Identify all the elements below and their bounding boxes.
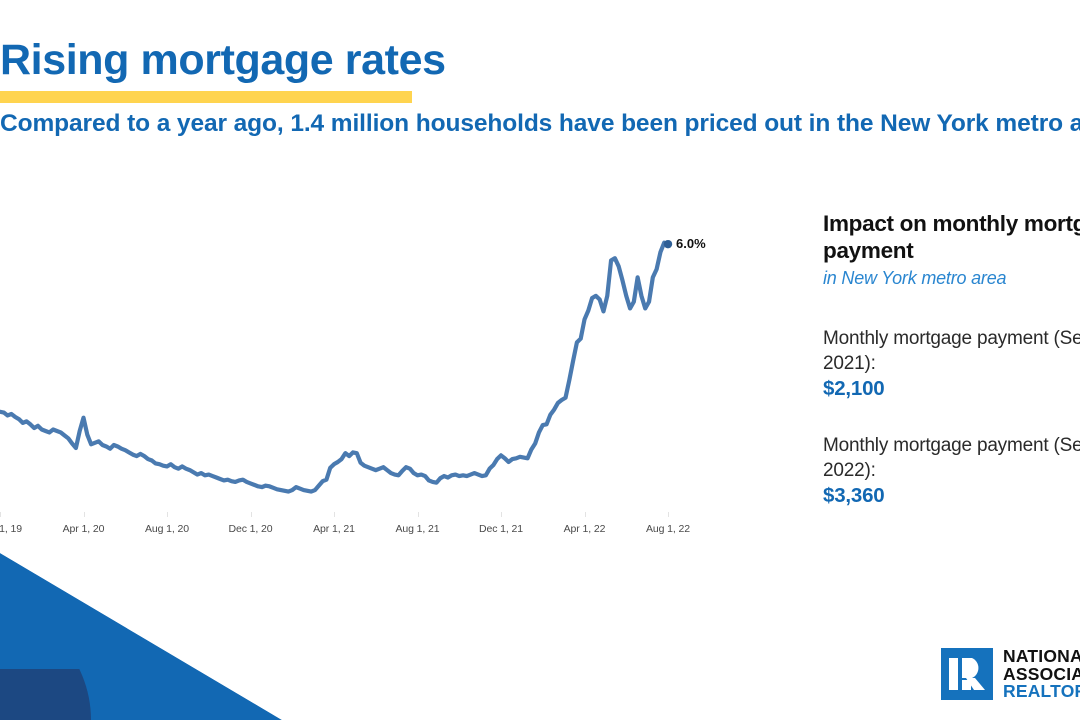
x-axis-tick [585,512,586,517]
nar-logo-wordmark: NATIONAL ASSOCIATION of REALTORS® [1003,648,1080,701]
endpoint-value-label: 6.0% [676,236,706,251]
x-axis-tick-label: Dec 1, 19 [0,523,22,535]
nar-logo-line1: NATIONAL [1003,648,1080,666]
impact-panel: Impact on monthly mortgage payment in Ne… [823,210,1080,510]
realtor-r-icon [941,648,993,700]
chart-x-axis: Dec 1, 19Apr 1, 20Aug 1, 20Dec 1, 20Apr … [0,512,680,540]
nar-logo-mark [941,648,993,700]
x-axis-tick-label: Dec 1, 20 [228,523,272,535]
corner-shapes-svg [0,540,357,720]
x-axis-tick-label: Apr 1, 21 [313,523,355,535]
rate-line-series [0,243,668,492]
mortgage-rate-chart: 6.0% Dec 1, 19Apr 1, 20Aug 1, 20Dec 1, 2… [0,200,680,540]
stat-label-2021: Monthly mortgage payment (September 2021… [823,326,1080,376]
nar-logo-line3: REALTORS® [1003,683,1080,701]
nar-logo: NATIONAL ASSOCIATION of REALTORS® [941,648,1080,701]
decorative-corner-graphic [0,540,357,720]
x-axis-tick [84,512,85,517]
stat-block-2021: Monthly mortgage payment (September 2021… [823,326,1080,403]
x-axis-tick-label: Apr 1, 22 [564,523,606,535]
page-subtitle: Compared to a year ago, 1.4 million hous… [0,108,1080,140]
x-axis-tick-label: Aug 1, 22 [646,523,690,535]
x-axis-tick [0,512,1,517]
impact-panel-heading: Impact on monthly mortgage payment [823,210,1080,265]
x-axis-tick [501,512,502,517]
page-title: Rising mortgage rates [0,38,446,83]
x-axis-tick [167,512,168,517]
x-axis-tick-label: Aug 1, 20 [145,523,189,535]
x-axis-tick-label: Dec 1, 21 [479,523,523,535]
rate-endpoint-marker [664,240,672,248]
x-axis-tick [251,512,252,517]
x-axis-tick-label: Apr 1, 20 [63,523,105,535]
triangle-mask-top [0,540,357,553]
x-axis-tick [334,512,335,517]
slide-canvas: Rising mortgage rates Compared to a year… [0,0,1080,720]
stat-label-2022: Monthly mortgage payment (September 2022… [823,433,1080,483]
x-axis-tick [668,512,669,517]
stat-value-2022: $3,360 [823,483,1080,510]
impact-panel-subheading: in New York metro area [823,267,1080,290]
x-axis-tick [418,512,419,517]
stat-block-2022: Monthly mortgage payment (September 2022… [823,433,1080,510]
chart-plot-svg [0,200,680,518]
title-underline-rule [0,91,412,103]
stat-value-2021: $2,100 [823,376,1080,403]
x-axis-tick-label: Aug 1, 21 [395,523,439,535]
